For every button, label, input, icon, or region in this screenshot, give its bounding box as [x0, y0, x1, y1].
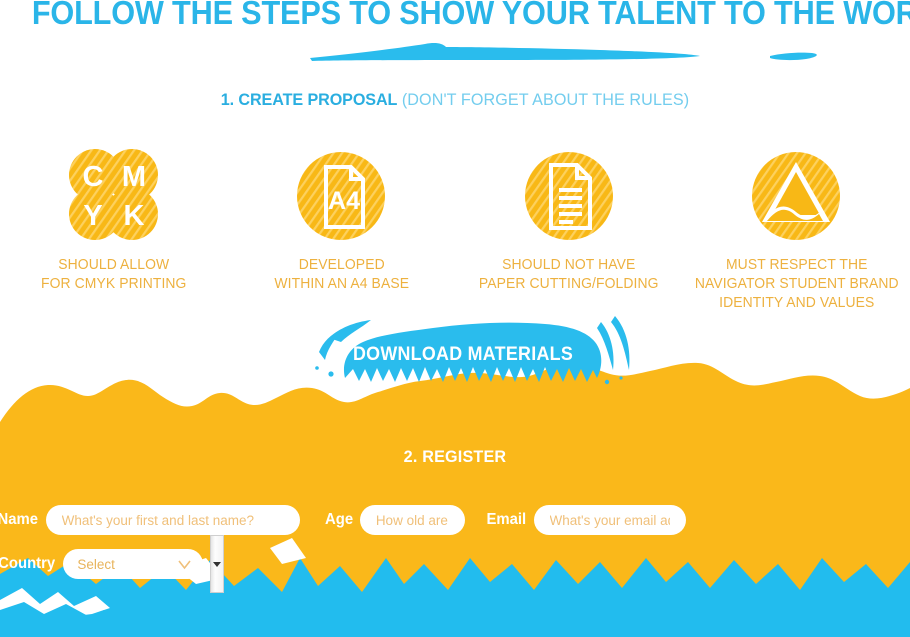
step-1-heading: 1. CREATE PROPOSAL (DON'T FORGET ABOUT T… [23, 90, 888, 110]
requirement-caption: SHOULD ALLOW FOR CMYK PRINTING [5, 256, 223, 294]
svg-text:C: C [82, 161, 103, 193]
caption-line-2: WITHIN AN A4 BASE [232, 275, 450, 294]
form-row-country: Country Select [0, 549, 203, 579]
country-label: Country [0, 555, 55, 573]
landing-page: FOLLOW THE STEPS TO SHOW YOUR TALENT TO … [0, 0, 910, 637]
navigator-logo-icon [748, 148, 844, 244]
cmyk-icon: C M Y K [66, 148, 162, 244]
download-materials-button[interactable]: DOWNLOAD MATERIALS [283, 312, 643, 398]
age-input[interactable] [360, 505, 465, 535]
country-select[interactable]: Select [63, 549, 203, 579]
document-lines-icon [521, 148, 617, 244]
svg-text:Y: Y [83, 200, 102, 232]
name-input[interactable] [46, 505, 300, 535]
requirement-item-cmyk: C M Y K SHOULD ALLOW FOR CMYK PRINTING [0, 148, 228, 294]
registration-form: Name Age Email Country Select [0, 505, 910, 605]
step-2-heading: 2. REGISTER [23, 447, 888, 467]
requirement-item-brand: MUST RESPECT THE NAVIGATOR STUDENT BRAND… [683, 148, 910, 313]
requirement-caption: SHOULD NOT HAVE PAPER CUTTING/FOLDING [460, 256, 678, 294]
caption-line-1: MUST RESPECT THE [687, 256, 905, 275]
country-dropdown-arrow[interactable] [210, 535, 224, 593]
caption-line-1: SHOULD NOT HAVE [460, 256, 678, 275]
email-input[interactable] [534, 505, 686, 535]
name-label: Name [0, 511, 38, 529]
requirement-item-a4: A4 DEVELOPED WITHIN AN A4 BASE [228, 148, 456, 294]
page-title: FOLLOW THE STEPS TO SHOW YOUR TALENT TO … [32, 0, 878, 32]
form-row-primary: Name Age Email [0, 505, 686, 535]
age-label: Age [325, 511, 353, 529]
requirement-caption: DEVELOPED WITHIN AN A4 BASE [232, 256, 450, 294]
caption-line-1: SHOULD ALLOW [5, 256, 223, 275]
chevron-down-icon [178, 558, 191, 571]
caption-line-3: IDENTITY AND VALUES [687, 294, 905, 313]
requirements-row: C M Y K SHOULD ALLOW FOR CMYK PRINTING [0, 148, 910, 313]
brush-underline-decoration [0, 38, 910, 68]
dropdown-triangle-icon [213, 562, 221, 567]
svg-text:K: K [123, 200, 144, 232]
step-1-note: (DON'T FORGET ABOUT THE RULES) [402, 90, 689, 109]
svg-text:A4: A4 [328, 187, 360, 215]
a4-document-icon: A4 [293, 148, 389, 244]
caption-line-1: DEVELOPED [232, 256, 450, 275]
svg-text:M: M [122, 161, 146, 193]
caption-line-2: NAVIGATOR STUDENT BRAND [687, 275, 905, 294]
requirement-caption: MUST RESPECT THE NAVIGATOR STUDENT BRAND… [687, 256, 905, 313]
email-label: Email [486, 511, 526, 529]
requirement-item-no-cutting: SHOULD NOT HAVE PAPER CUTTING/FOLDING [455, 148, 683, 294]
caption-line-2: FOR CMYK PRINTING [5, 275, 223, 294]
caption-line-2: PAPER CUTTING/FOLDING [460, 275, 678, 294]
step-1-label: 1. CREATE PROPOSAL [221, 90, 398, 109]
